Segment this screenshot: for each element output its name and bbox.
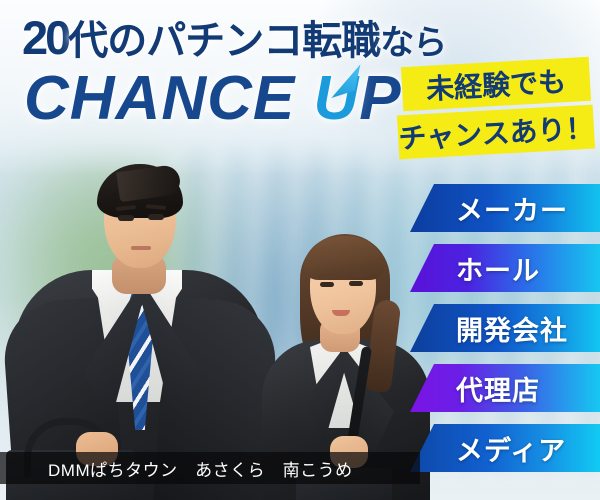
category-button-developer[interactable]: 開発会社 — [410, 304, 600, 352]
category-button-hall-label: ホール — [456, 249, 540, 288]
man-eye-left — [118, 215, 134, 221]
badge-no-experience-label: 未経験でも — [425, 60, 567, 108]
promo-banner: 20代のパチンコ転職なら CHANCE UP 未経験でも チャンスあり！ メーカ… — [0, 0, 600, 500]
category-button-agency[interactable]: 代理店 — [410, 364, 600, 412]
woman-eye-right — [349, 281, 363, 286]
category-button-media[interactable]: メディア — [410, 424, 600, 472]
logo-chance-up: CHANCE UP — [24, 68, 402, 130]
headline-suffix: なら — [380, 24, 446, 62]
category-button-maker-label: メーカー — [456, 189, 568, 228]
people-photo — [0, 150, 430, 500]
category-button-developer-label: 開発会社 — [456, 309, 568, 348]
logo-part-chance: CHANCE — [24, 64, 313, 133]
caption-text: DMMぱちタウン あさくら 南こうめ — [48, 456, 353, 481]
headline-main: 代のパチンコ転職 — [68, 19, 380, 63]
badge-chance-available-label: チャンスあり！ — [397, 107, 594, 158]
headline: 20代のパチンコ転職なら — [22, 14, 446, 61]
category-button-hall[interactable]: ホール — [410, 244, 600, 292]
man-mouth — [131, 246, 151, 250]
category-button-maker[interactable]: メーカー — [410, 184, 600, 232]
logo-part-p: P — [359, 64, 401, 133]
category-button-agency-label: 代理店 — [456, 369, 540, 408]
man-eye-right — [148, 214, 164, 220]
headline-number: 20 — [22, 11, 68, 64]
logo-letter-u: U — [313, 68, 359, 130]
category-button-media-label: メディア — [456, 429, 566, 468]
woman-eye-left — [320, 282, 334, 287]
caption-bar: DMMぱちタウン あさくら 南こうめ — [0, 452, 420, 484]
category-button-list: メーカー ホール 開発会社 代理店 メディア — [410, 184, 600, 484]
